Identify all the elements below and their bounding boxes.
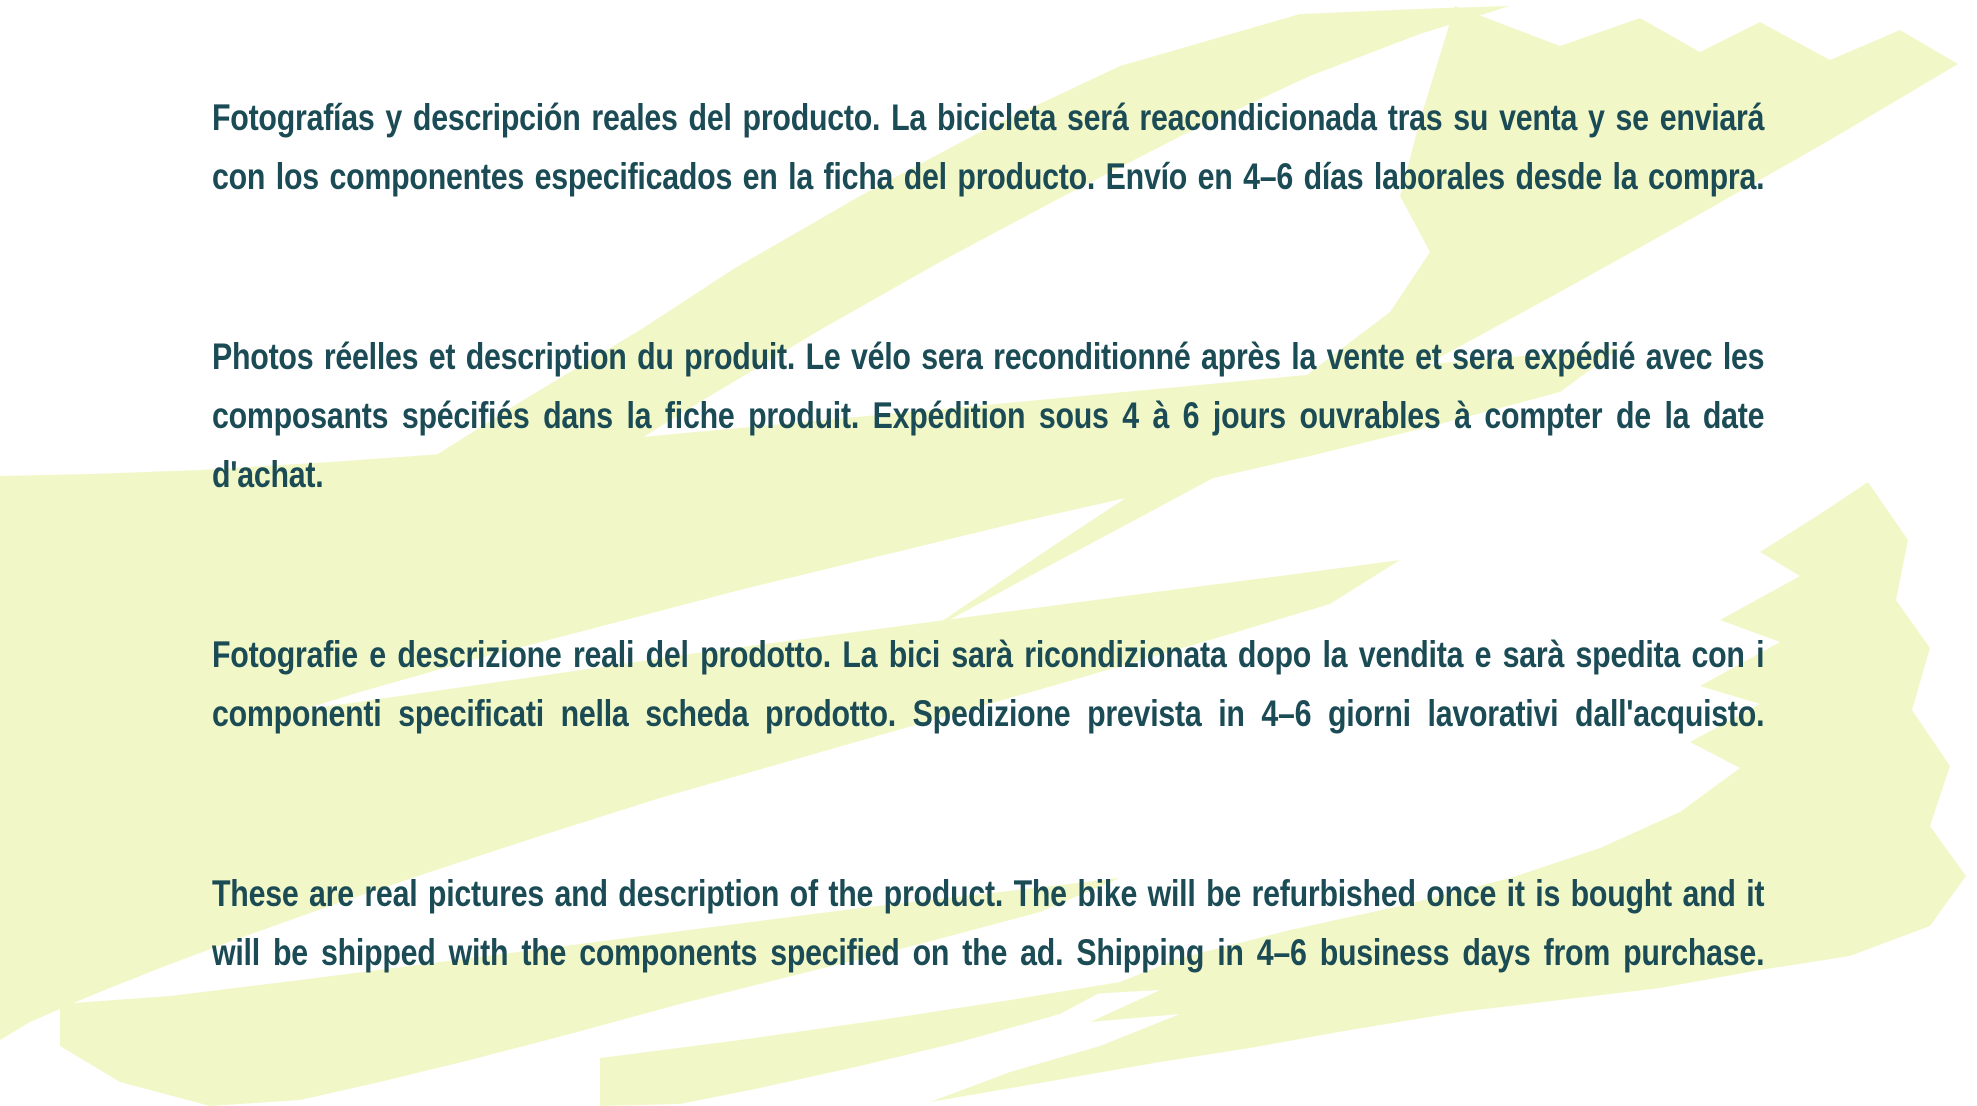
- paragraph-spanish: Fotografías y descripción reales del pro…: [212, 88, 1764, 265]
- paragraph-italian: Fotografie e descrizione reali del prodo…: [212, 625, 1764, 802]
- description-text-block: Fotografías y descripción reales del pro…: [212, 88, 1764, 1041]
- paragraph-french: Photos réelles et description du produit…: [212, 327, 1764, 563]
- paragraph-english: These are real pictures and description …: [212, 864, 1764, 1041]
